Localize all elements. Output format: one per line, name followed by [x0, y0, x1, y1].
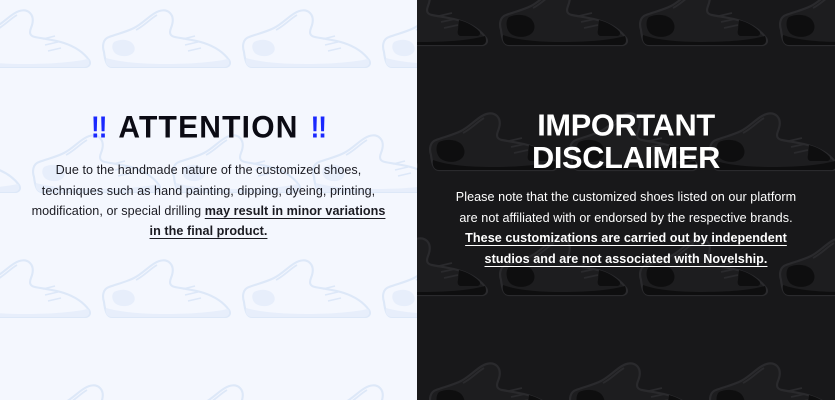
disclaimer-body: Please note that the customized shoes li…	[445, 187, 807, 269]
double-exclamation-left-icon: !!	[91, 112, 106, 143]
disclaimer-heading: IMPORTANT DISCLAIMER	[434, 110, 818, 175]
attention-body: Due to the handmade nature of the custom…	[28, 160, 389, 242]
attention-content: !! ATTENTION !! Due to the handmade natu…	[0, 112, 417, 242]
attention-heading-text: ATTENTION	[118, 111, 298, 143]
disclaimer-body-plain: Please note that the customized shoes li…	[456, 190, 796, 224]
disclaimer-heading-line-1: IMPORTANT	[434, 110, 818, 142]
disclaimer-panel: IMPORTANT DISCLAIMER Please note that th…	[417, 0, 835, 400]
disclaimer-content: IMPORTANT DISCLAIMER Please note that th…	[417, 112, 835, 269]
disclaimer-banner: !! ATTENTION !! Due to the handmade natu…	[0, 0, 835, 400]
attention-heading: !! ATTENTION !!	[28, 111, 389, 143]
disclaimer-heading-line-2: DISCLAIMER	[434, 143, 818, 175]
double-exclamation-right-icon: !!	[311, 112, 326, 143]
disclaimer-body-emphasis: These customizations are carried out by …	[465, 231, 787, 265]
attention-panel: !! ATTENTION !! Due to the handmade natu…	[0, 0, 417, 400]
